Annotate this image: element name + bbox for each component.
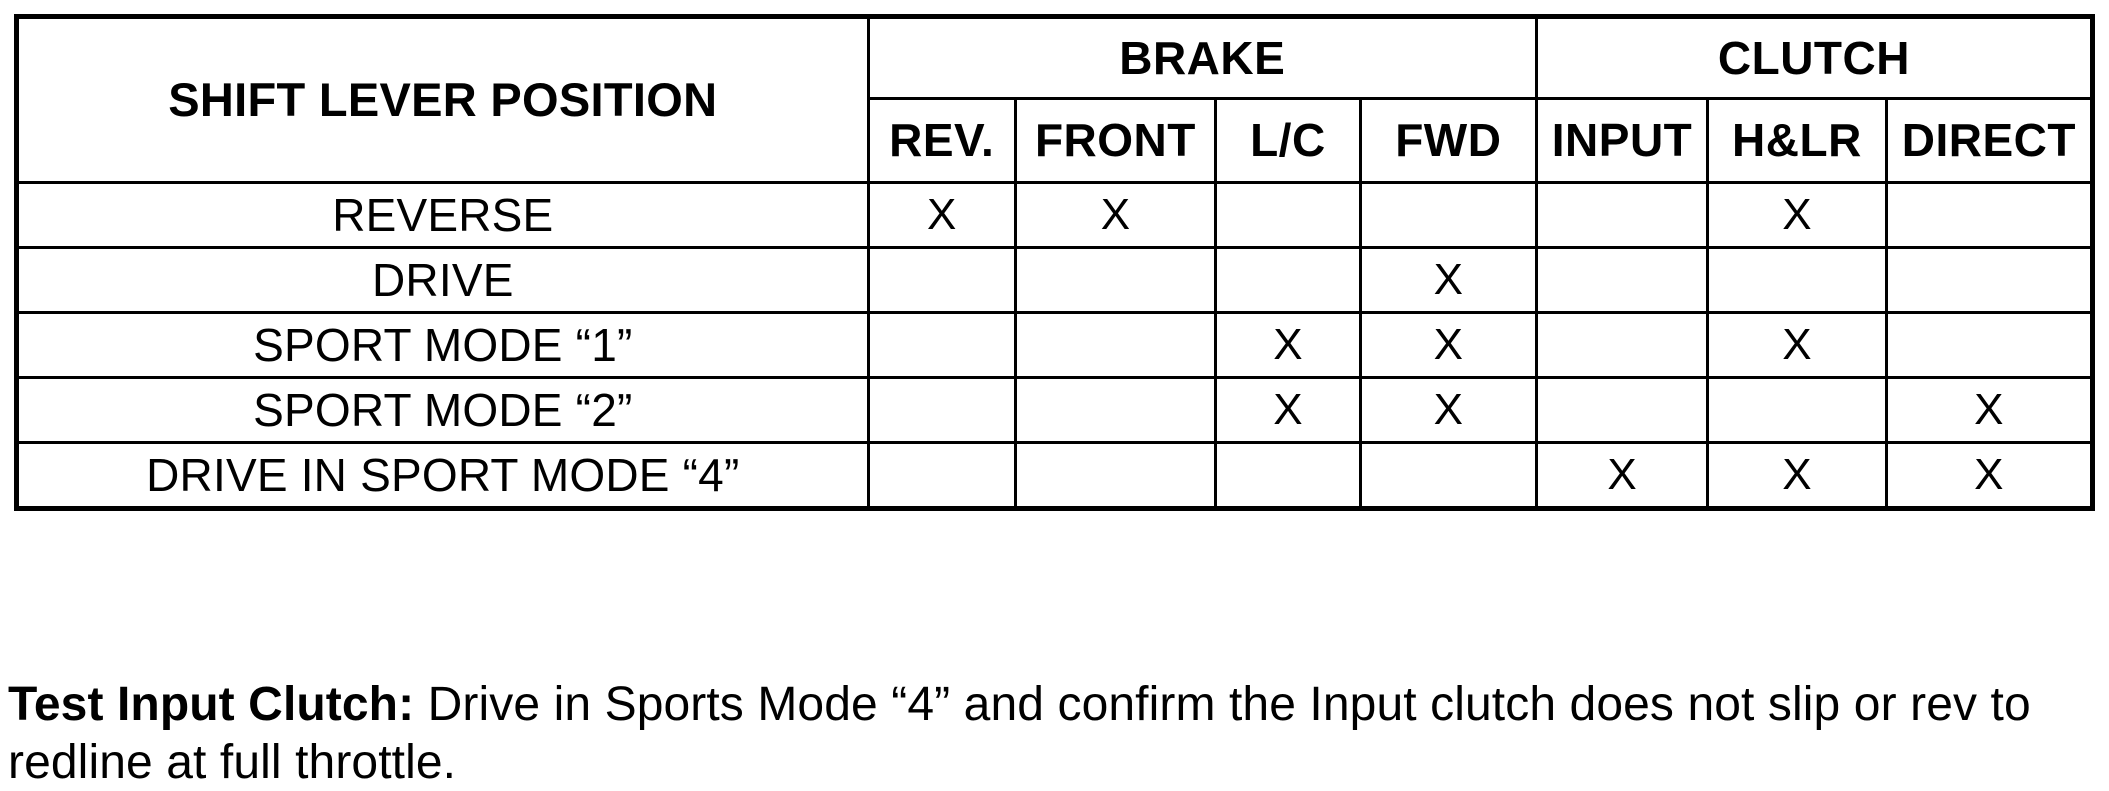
cell-mark-input: X bbox=[1536, 443, 1707, 509]
header-shift-lever-position: SHIFT LEVER POSITION bbox=[17, 17, 869, 183]
header-brake-fwd: FWD bbox=[1360, 99, 1536, 183]
cell-empty-l-c bbox=[1216, 248, 1361, 313]
shift-lever-clutch-brake-table-container: SHIFT LEVER POSITION BRAKE CLUTCH REV. F… bbox=[14, 14, 2095, 511]
cell-empty-input bbox=[1536, 248, 1707, 313]
cell-empty-handlr bbox=[1708, 378, 1887, 443]
cell-empty-handlr bbox=[1708, 248, 1887, 313]
table-body: REVERSEXXXDRIVEXSPORT MODE “1”XXXSPORT M… bbox=[17, 183, 2093, 509]
cell-mark-direct: X bbox=[1886, 378, 2092, 443]
cell-empty-fwd bbox=[1360, 183, 1536, 248]
cell-mark-l-c: X bbox=[1216, 313, 1361, 378]
cell-empty-front bbox=[1015, 443, 1215, 509]
row-label-shift-lever-position: REVERSE bbox=[17, 183, 869, 248]
header-clutch-direct: DIRECT bbox=[1886, 99, 2092, 183]
table-row: SPORT MODE “1”XXX bbox=[17, 313, 2093, 378]
cell-mark-fwd: X bbox=[1360, 248, 1536, 313]
cell-empty-front bbox=[1015, 248, 1215, 313]
row-label-shift-lever-position: DRIVE IN SPORT MODE “4” bbox=[17, 443, 869, 509]
row-label-shift-lever-position: DRIVE bbox=[17, 248, 869, 313]
cell-empty-l-c bbox=[1216, 183, 1361, 248]
cell-empty-input bbox=[1536, 378, 1707, 443]
cell-mark-handlr: X bbox=[1708, 443, 1887, 509]
header-group-brake: BRAKE bbox=[868, 17, 1536, 99]
table-row: REVERSEXXX bbox=[17, 183, 2093, 248]
cell-mark-front: X bbox=[1015, 183, 1215, 248]
cell-mark-handlr: X bbox=[1708, 313, 1887, 378]
table-row: SPORT MODE “2”XXX bbox=[17, 378, 2093, 443]
table-head: SHIFT LEVER POSITION BRAKE CLUTCH REV. F… bbox=[17, 17, 2093, 183]
cell-empty-input bbox=[1536, 313, 1707, 378]
header-clutch-hlr: H&LR bbox=[1708, 99, 1887, 183]
cell-mark-fwd: X bbox=[1360, 378, 1536, 443]
header-brake-rev: REV. bbox=[868, 99, 1015, 183]
cell-empty-front bbox=[1015, 378, 1215, 443]
header-group-clutch: CLUTCH bbox=[1536, 17, 2092, 99]
test-input-clutch-note: Test Input Clutch: Drive in Sports Mode … bbox=[8, 676, 2103, 791]
cell-empty-rev bbox=[868, 378, 1015, 443]
note-heading: Test Input Clutch: bbox=[8, 678, 414, 731]
cell-mark-handlr: X bbox=[1708, 183, 1887, 248]
header-brake-lc: L/C bbox=[1216, 99, 1361, 183]
table-row: DRIVEX bbox=[17, 248, 2093, 313]
cell-empty-front bbox=[1015, 313, 1215, 378]
cell-empty-input bbox=[1536, 183, 1707, 248]
cell-empty-rev bbox=[868, 313, 1015, 378]
header-clutch-input: INPUT bbox=[1536, 99, 1707, 183]
document-page: SHIFT LEVER POSITION BRAKE CLUTCH REV. F… bbox=[0, 0, 2109, 765]
cell-mark-l-c: X bbox=[1216, 378, 1361, 443]
cell-empty-rev bbox=[868, 443, 1015, 509]
row-label-shift-lever-position: SPORT MODE “1” bbox=[17, 313, 869, 378]
cell-empty-fwd bbox=[1360, 443, 1536, 509]
cell-empty-direct bbox=[1886, 313, 2092, 378]
shift-lever-application-table: SHIFT LEVER POSITION BRAKE CLUTCH REV. F… bbox=[14, 14, 2095, 511]
cell-empty-direct bbox=[1886, 183, 2092, 248]
table-header-group-row: SHIFT LEVER POSITION BRAKE CLUTCH bbox=[17, 17, 2093, 99]
cell-empty-direct bbox=[1886, 248, 2092, 313]
row-label-shift-lever-position: SPORT MODE “2” bbox=[17, 378, 869, 443]
cell-mark-fwd: X bbox=[1360, 313, 1536, 378]
table-row: DRIVE IN SPORT MODE “4”XXX bbox=[17, 443, 2093, 509]
cell-mark-rev: X bbox=[868, 183, 1015, 248]
header-brake-front: FRONT bbox=[1015, 99, 1215, 183]
cell-empty-rev bbox=[868, 248, 1015, 313]
cell-empty-l-c bbox=[1216, 443, 1361, 509]
cell-mark-direct: X bbox=[1886, 443, 2092, 509]
